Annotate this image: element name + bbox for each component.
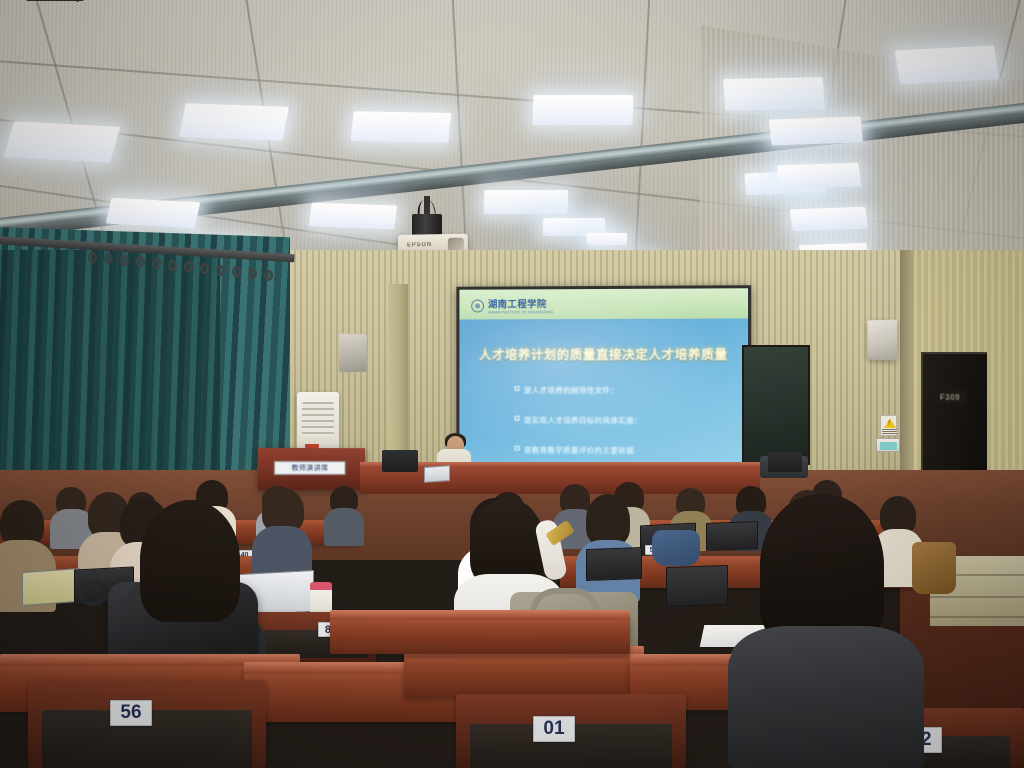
presenter-table-edge [360, 462, 760, 468]
ceiling-light-panel [769, 116, 863, 145]
curtain-ring [264, 270, 273, 281]
presenter-table [360, 466, 760, 494]
light-switch-toggle[interactable] [880, 442, 897, 450]
attendee-body [728, 626, 924, 768]
attendee-body [324, 508, 364, 546]
curtain-ring [104, 253, 113, 264]
curtain-ring [200, 263, 209, 274]
attendee-laptop [22, 568, 80, 606]
ac-vent-grille-icon [302, 402, 334, 436]
headphones [78, 580, 108, 606]
lectern-top-surface [26, 0, 84, 1]
projection-screen: 湖南工程学院 HUNAN INSTITUTE OF ENGINEERING 人才… [459, 288, 748, 465]
curtain-ring [216, 265, 225, 276]
projection-screen-frame: 湖南工程学院 HUNAN INSTITUTE OF ENGINEERING 人才… [456, 285, 751, 469]
curtain-ring [88, 252, 97, 263]
lecture-hall-photo: EPSON 湖南工程学院 HUNAN INSTITUTE OF [0, 0, 1024, 768]
attendee-hair [760, 494, 884, 644]
ceiling-light-panel [179, 103, 289, 141]
seat-number-badge: 01 [533, 716, 575, 742]
curtain-ring [184, 261, 193, 272]
curtain-ring [136, 256, 145, 267]
ceiling-light-panel [106, 198, 201, 229]
attendee-laptop [586, 547, 642, 581]
warning-exclamation-icon: ! [888, 421, 890, 427]
wall-speaker-right [867, 320, 897, 361]
ceiling-light-panel [723, 77, 825, 111]
ceiling-light-panel [777, 163, 861, 190]
ceiling-light-panel [790, 207, 869, 232]
ceiling-light-panel [532, 95, 633, 125]
projector-brand-label: EPSON [407, 242, 432, 248]
front-monitor [382, 450, 418, 472]
electrical-warning-sign: ! [880, 415, 897, 436]
attendee-hair [586, 494, 630, 546]
coffee-cup-lid [310, 582, 332, 590]
attendee-laptop [666, 565, 728, 607]
attendee-laptop [706, 521, 758, 551]
curtain-ring [168, 260, 177, 271]
curtain-ring [152, 258, 161, 269]
ceiling-light-panel [587, 233, 627, 245]
seat-number-badge: 56 [110, 700, 152, 726]
warning-sign-text [882, 429, 897, 434]
step-edge [930, 596, 1024, 598]
wall-speaker-left [339, 334, 367, 373]
audience-desk-front [404, 652, 644, 698]
attendee-hair [140, 500, 240, 622]
handbag [652, 530, 700, 566]
interior-window: 喜迎 [742, 345, 810, 465]
projector-arm [412, 214, 442, 236]
ceiling-light-panel [309, 202, 398, 229]
presenter-laptop [424, 465, 450, 483]
step-edge [930, 616, 1024, 618]
lectern-name-plate: 教师演讲席 [274, 461, 346, 475]
room-number-sign: F309 [934, 390, 966, 404]
curtain-ring [232, 266, 241, 277]
ceiling-light-panel [4, 121, 121, 163]
curtain-ring [248, 268, 257, 279]
handbag [912, 542, 956, 594]
ceiling-light-panel [484, 190, 569, 214]
screen-glare [459, 288, 748, 465]
front-monitor [768, 452, 802, 472]
audience-desk-front [330, 616, 630, 654]
light-switch-panel[interactable] [876, 438, 900, 452]
lectern: 教师演讲席 [258, 448, 365, 490]
ceiling-light-panel [895, 45, 1000, 84]
curtain-ring [120, 255, 129, 266]
attendee-hair [470, 498, 544, 586]
ceiling-light-panel [351, 111, 452, 143]
desk-surface [330, 610, 630, 620]
